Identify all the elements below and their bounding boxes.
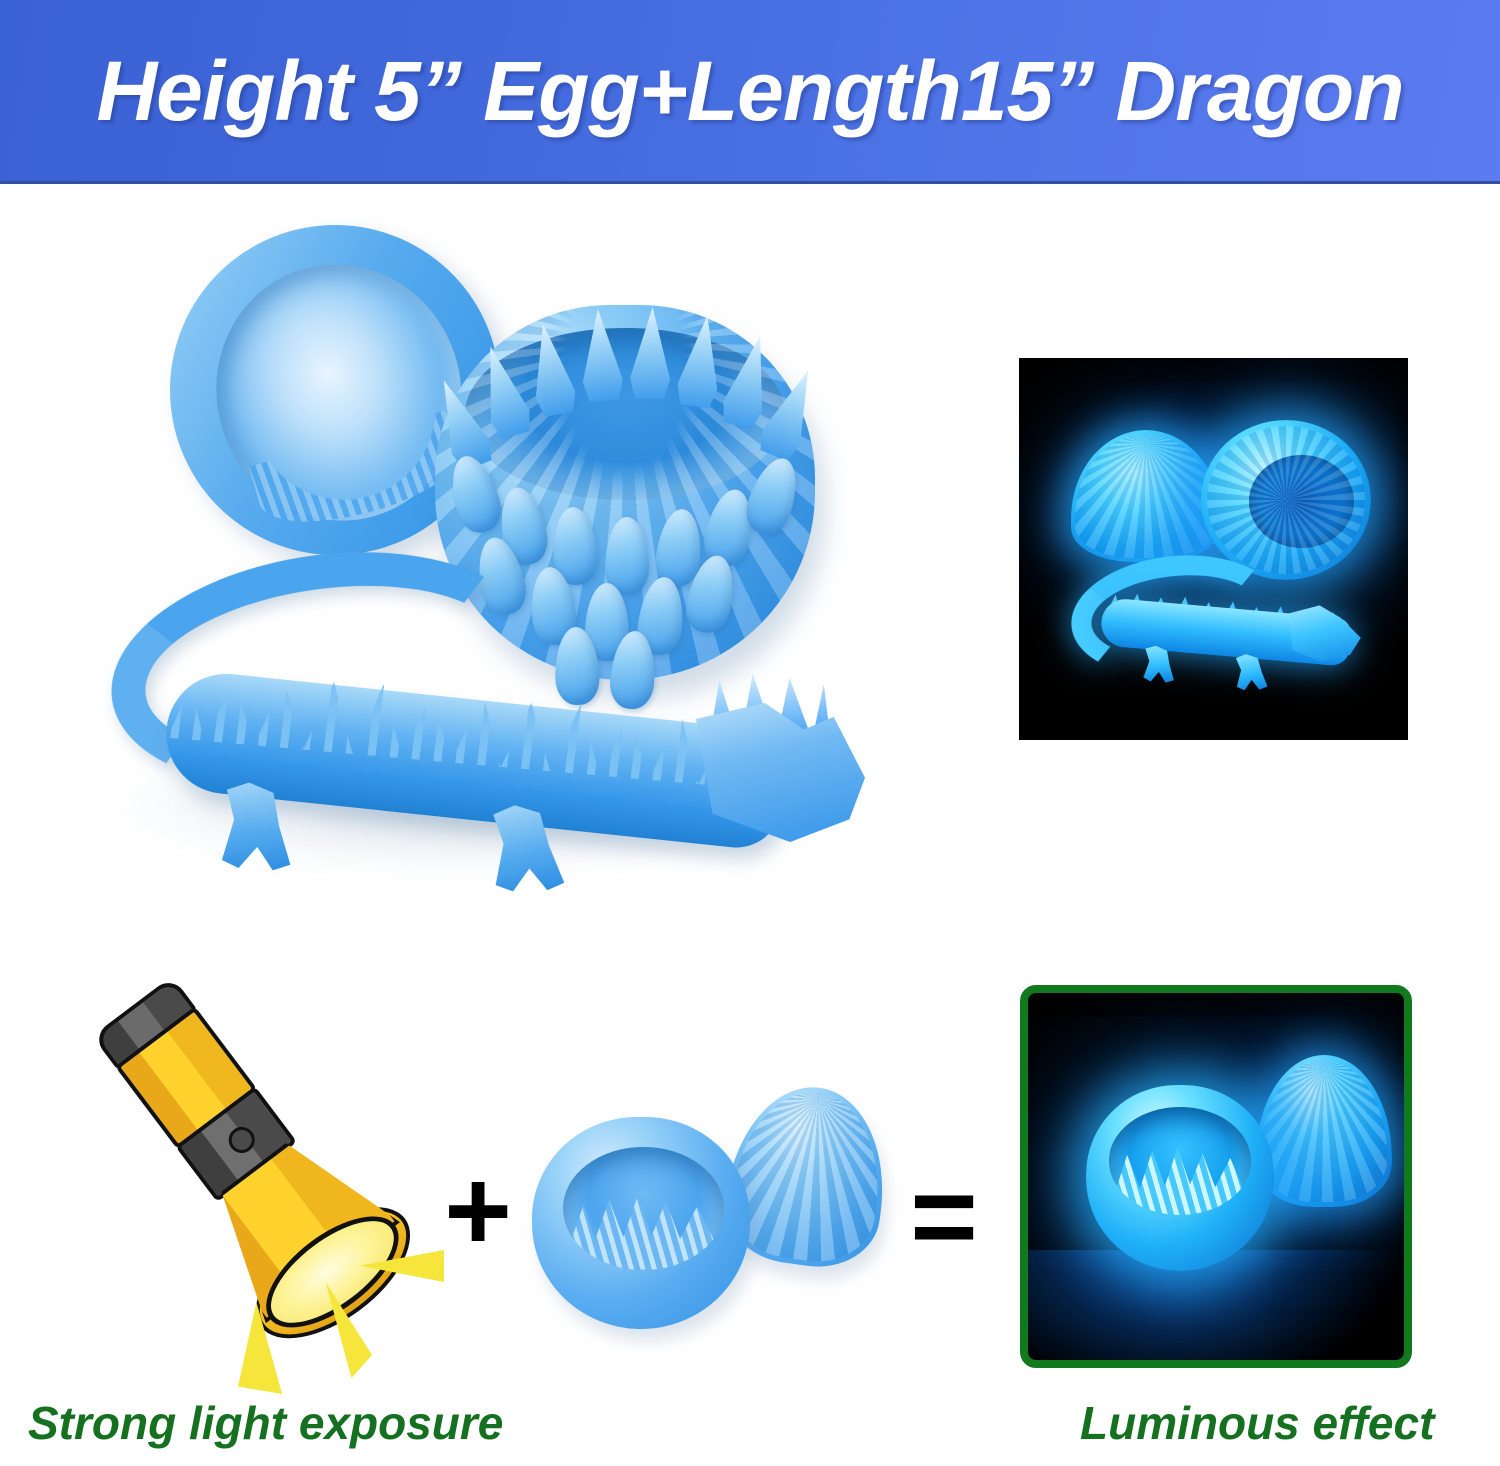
luminous-egg-body: [1086, 1085, 1274, 1271]
caption-luminous-effect: Luminous effect: [1080, 1400, 1434, 1446]
caption-strong-light-exposure: Strong light exposure: [28, 1400, 503, 1446]
luminous-effect-panel: [1020, 985, 1412, 1368]
flashlight-illustration: [60, 990, 460, 1390]
luminous-egg-lid: [1256, 1055, 1392, 1207]
luminous-egg-opening: [1109, 1107, 1252, 1215]
hero-product-photo: [40, 195, 980, 955]
glow-egg-body: [1201, 420, 1371, 580]
egg-bowl: [532, 1117, 750, 1329]
flashlight-handle: [92, 976, 352, 1276]
equals-symbol: =: [908, 1158, 976, 1274]
glow-egg-opening: [1249, 455, 1354, 548]
egg-product-photo: [520, 1075, 890, 1345]
glow-in-dark-panel: [1019, 358, 1408, 740]
page-title: Height 5” Egg+Length15” Dragon: [96, 49, 1403, 133]
dragon-figure: [50, 555, 850, 915]
glow-egg-lid: [1071, 430, 1221, 562]
panel-floor-glow: [1028, 1250, 1404, 1368]
product-infographic: Height 5” Egg+Length15” Dragon: [0, 0, 1500, 1466]
plus-symbol: +: [442, 1152, 510, 1268]
egg-interior-dragon: [563, 1147, 724, 1270]
header-banner: Height 5” Egg+Length15” Dragon: [0, 0, 1500, 184]
